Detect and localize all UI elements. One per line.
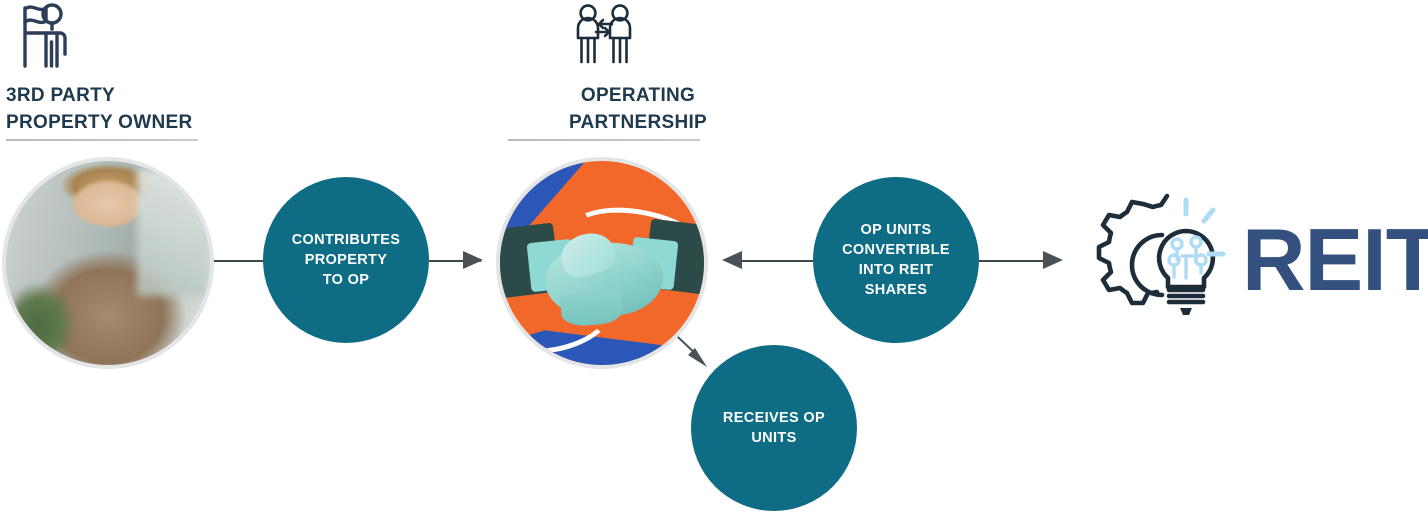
title-divider-owner [6, 139, 198, 141]
person-with-flag-icon [8, 2, 70, 75]
two-people-exchange-icon [572, 4, 636, 71]
arrow-contributes-to-op [463, 251, 483, 269]
handshake-fingers [560, 289, 623, 326]
avatar-property-owner [6, 161, 210, 365]
arrow-op-units-to-op [722, 251, 742, 269]
reit-wordmark: REIT [1242, 216, 1428, 304]
gear-lightbulb-circuit-icon [1082, 190, 1242, 330]
avatar-operating-partnership [500, 161, 704, 365]
step-contributes-property-to-op[interactable]: CONTRIBUTES PROPERTY TO OP [263, 177, 429, 343]
page-title-owner: 3RD PARTY PROPERTY OWNER [6, 82, 286, 136]
step-op-units-convertible-into-reit-shares[interactable]: OP UNITS CONVERTIBLE INTO REIT SHARES [813, 177, 979, 343]
reit-logo: REIT [1082, 190, 1428, 330]
arrow-op-units-to-reit [1043, 251, 1063, 269]
photo-window-backdrop [137, 169, 206, 295]
page-title-operating-partnership: OPERATING PARTNERSHIP [508, 82, 768, 136]
step-receives-op-units[interactable]: RECEIVES OP UNITS [691, 345, 857, 511]
step-label: CONTRIBUTES PROPERTY TO OP [292, 230, 401, 290]
photo-plant [14, 283, 75, 352]
step-label: RECEIVES OP UNITS [723, 408, 825, 448]
title-divider-operating-partnership [508, 139, 700, 141]
diagram-canvas: 3RD PARTY PROPERTY OWNER CONTRIBUTES PRO… [0, 0, 1428, 513]
connector-op-units-to-op [740, 260, 824, 262]
step-label: OP UNITS CONVERTIBLE INTO REIT SHARES [842, 220, 950, 300]
